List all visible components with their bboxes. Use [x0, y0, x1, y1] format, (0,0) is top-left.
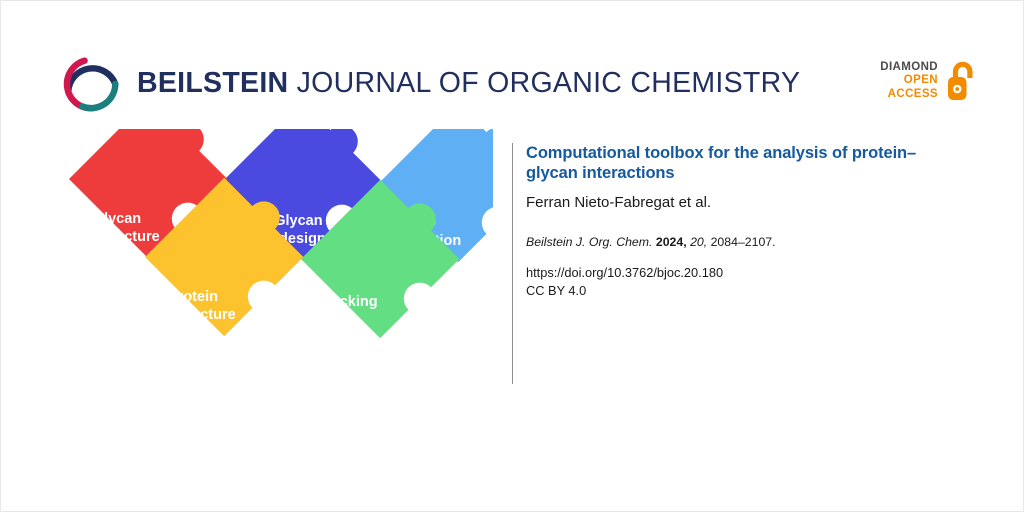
article-license: CC BY 4.0 — [526, 282, 958, 300]
citation-volume: 20, — [690, 235, 707, 249]
citation-pages: 2084–2107. — [711, 235, 776, 249]
article-doi-link[interactable]: https://doi.org/10.3762/bjoc.20.180 — [526, 264, 958, 282]
masthead-wordmark-strong: BEILSTEIN — [137, 67, 288, 99]
vertical-divider — [512, 143, 513, 384]
masthead-wordmark: BEILSTEIN JOURNAL OF ORGANIC CHEMISTRY — [137, 69, 800, 100]
beilstein-circular-swirl-logo-icon — [59, 52, 123, 116]
puzzle-piece-glycan-line-1: Glycan — [93, 211, 141, 227]
open-access-line-diamond: DIAMOND — [880, 61, 938, 74]
journal-masthead: BEILSTEIN JOURNAL OF ORGANIC CHEMISTRY — [59, 53, 800, 115]
puzzle-piece-protein-line-2: 3D structure — [150, 307, 235, 323]
puzzle-diagram: MD simulation Protein-Glycan complex des… — [53, 129, 493, 381]
citation-year: 2024, — [656, 235, 687, 249]
puzzle-piece-glycan-line-2: 3D structure — [74, 229, 159, 245]
open-padlock-icon — [945, 60, 975, 102]
puzzle-piece-docking-line-1: Docking — [320, 294, 377, 310]
open-access-line-access: ACCESS — [880, 88, 938, 101]
diamond-open-access-badge: DIAMOND OPEN ACCESS — [880, 60, 975, 102]
article-citation: Beilstein J. Org. Chem. 2024, 20, 2084–2… — [526, 235, 958, 251]
article-title[interactable]: Computational toolbox for the analysis o… — [526, 143, 958, 183]
journal-graphical-abstract-card: BEILSTEIN JOURNAL OF ORGANIC CHEMISTRY D… — [0, 0, 1024, 512]
article-authors: Ferran Nieto-Fabregat et al. — [526, 194, 958, 213]
open-access-label-group: DIAMOND OPEN ACCESS — [880, 61, 938, 101]
masthead-wordmark-light: JOURNAL OF ORGANIC CHEMISTRY — [288, 67, 800, 99]
citation-journal: Beilstein J. Org. Chem. — [526, 235, 652, 249]
open-access-line-open: OPEN — [880, 74, 938, 87]
article-info-block: Computational toolbox for the analysis o… — [526, 143, 958, 300]
puzzle-piece-protein-line-1: Protein — [168, 289, 218, 305]
